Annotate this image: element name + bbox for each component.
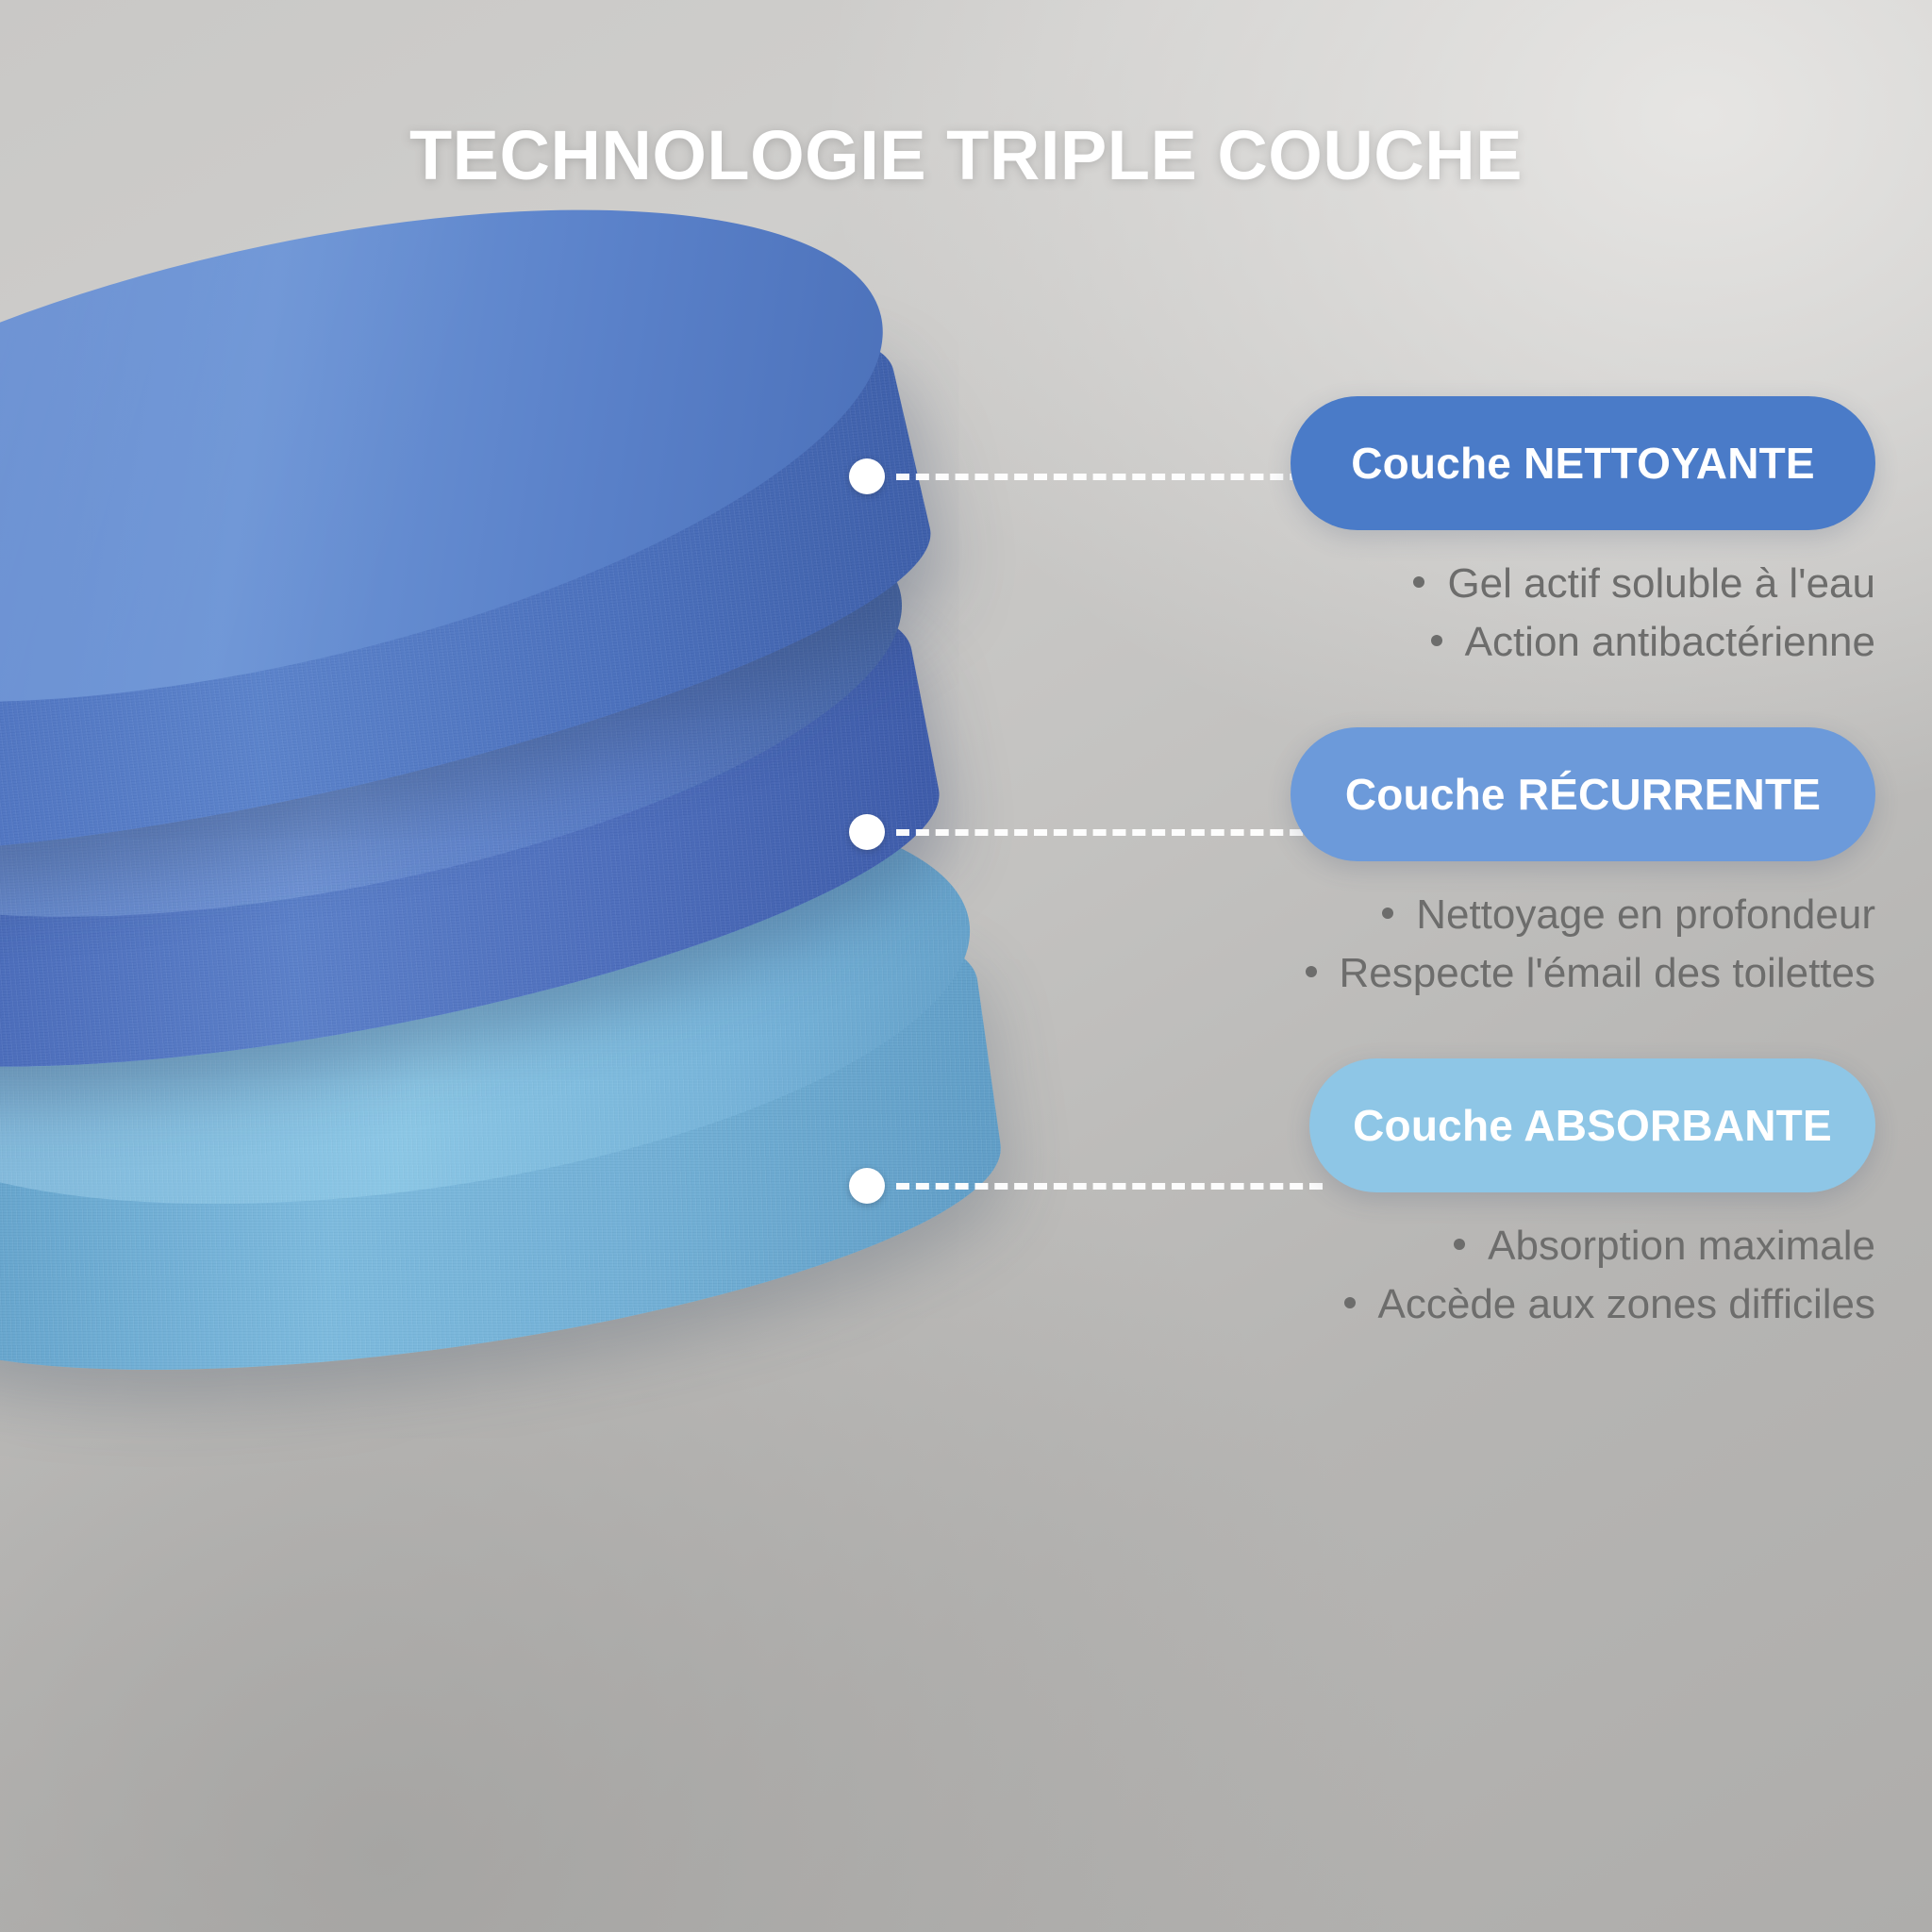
layer-block-recurrent: Couche RÉCURRENTE Nettoyage en profondeu… [1291, 727, 1875, 1004]
badge-couche-recurrente[interactable]: Couche RÉCURRENTE [1291, 727, 1875, 861]
bullet-list-absorbent: Absorption maximale Accède aux zones dif… [1158, 1217, 1875, 1335]
connector-line-recurrent [849, 814, 1323, 850]
connector-dash-icon [896, 1183, 1323, 1190]
list-item: Accède aux zones difficiles [1158, 1275, 1875, 1334]
badge-couche-absorbante[interactable]: Couche ABSORBANTE [1309, 1058, 1875, 1192]
bullet-list-cleaning: Gel actif soluble à l'eau Action antibac… [1253, 555, 1875, 673]
bullet-dot-icon [1344, 1297, 1356, 1308]
list-item: Gel actif soluble à l'eau [1253, 555, 1875, 613]
infographic-canvas: TECHNOLOGIE TRIPLE COUCHE [0, 0, 1932, 1932]
layer-info-panel: Couche NETTOYANTE Gel actif soluble à l'… [1291, 396, 1875, 1335]
bullet-text: Action antibactérienne [1465, 613, 1875, 672]
connector-dot-icon [849, 1168, 885, 1204]
bullet-text: Nettoyage en profondeur [1416, 886, 1875, 944]
bullet-dot-icon [1382, 908, 1393, 919]
list-item: Respecte l'émail des toilettes [1158, 944, 1875, 1003]
bullet-text: Absorption maximale [1488, 1217, 1875, 1275]
bullet-dot-icon [1306, 966, 1317, 977]
bullet-dot-icon [1413, 576, 1424, 588]
bullet-text: Gel actif soluble à l'eau [1447, 555, 1875, 613]
list-item: Nettoyage en profondeur [1158, 886, 1875, 944]
connector-line-cleaning [849, 458, 1323, 494]
connector-dot-icon [849, 814, 885, 850]
layer-block-cleaning: Couche NETTOYANTE Gel actif soluble à l'… [1291, 396, 1875, 673]
connector-dash-icon [896, 829, 1323, 836]
list-item: Absorption maximale [1158, 1217, 1875, 1275]
bullet-dot-icon [1431, 635, 1442, 646]
bullet-text: Accède aux zones difficiles [1378, 1275, 1875, 1334]
connector-dot-icon [849, 458, 885, 494]
bullet-dot-icon [1454, 1239, 1465, 1250]
badge-couche-nettoyante[interactable]: Couche NETTOYANTE [1291, 396, 1875, 530]
connector-line-absorbent [849, 1168, 1323, 1204]
connector-dash-icon [896, 474, 1323, 480]
layer-block-absorbent: Couche ABSORBANTE Absorption maximale Ac… [1291, 1058, 1875, 1335]
list-item: Action antibactérienne [1253, 613, 1875, 672]
bullet-text: Respecte l'émail des toilettes [1340, 944, 1875, 1003]
page-title: TECHNOLOGIE TRIPLE COUCHE [0, 121, 1932, 191]
bullet-list-recurrent: Nettoyage en profondeur Respecte l'émail… [1158, 886, 1875, 1004]
